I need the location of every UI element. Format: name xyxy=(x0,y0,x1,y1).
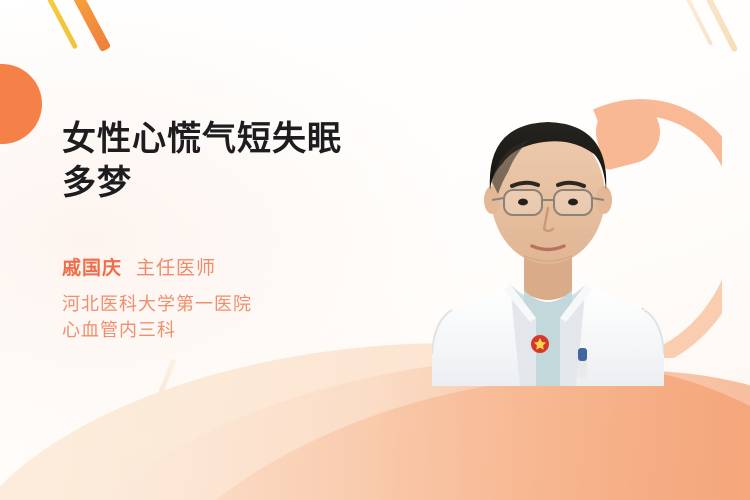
doctor-identity-line: 戚国庆 主任医师 xyxy=(62,253,412,280)
doctor-professional-title: 主任医师 xyxy=(136,253,216,280)
doctor-hospital: 河北医科大学第一医院 xyxy=(62,291,412,317)
doctor-department: 心血管内三科 xyxy=(62,317,412,343)
page-title: 女性心慌气短失眠 多梦 xyxy=(62,118,412,205)
text-block: 女性心慌气短失眠 多梦 戚国庆 主任医师 河北医科大学第一医院 心血管内三科 xyxy=(62,118,412,343)
doctor-name: 戚国庆 xyxy=(62,253,122,280)
doctor-portrait-image xyxy=(432,86,664,386)
health-article-cover-card: 女性心慌气短失眠 多梦 戚国庆 主任医师 河北医科大学第一医院 心血管内三科 xyxy=(0,0,750,500)
